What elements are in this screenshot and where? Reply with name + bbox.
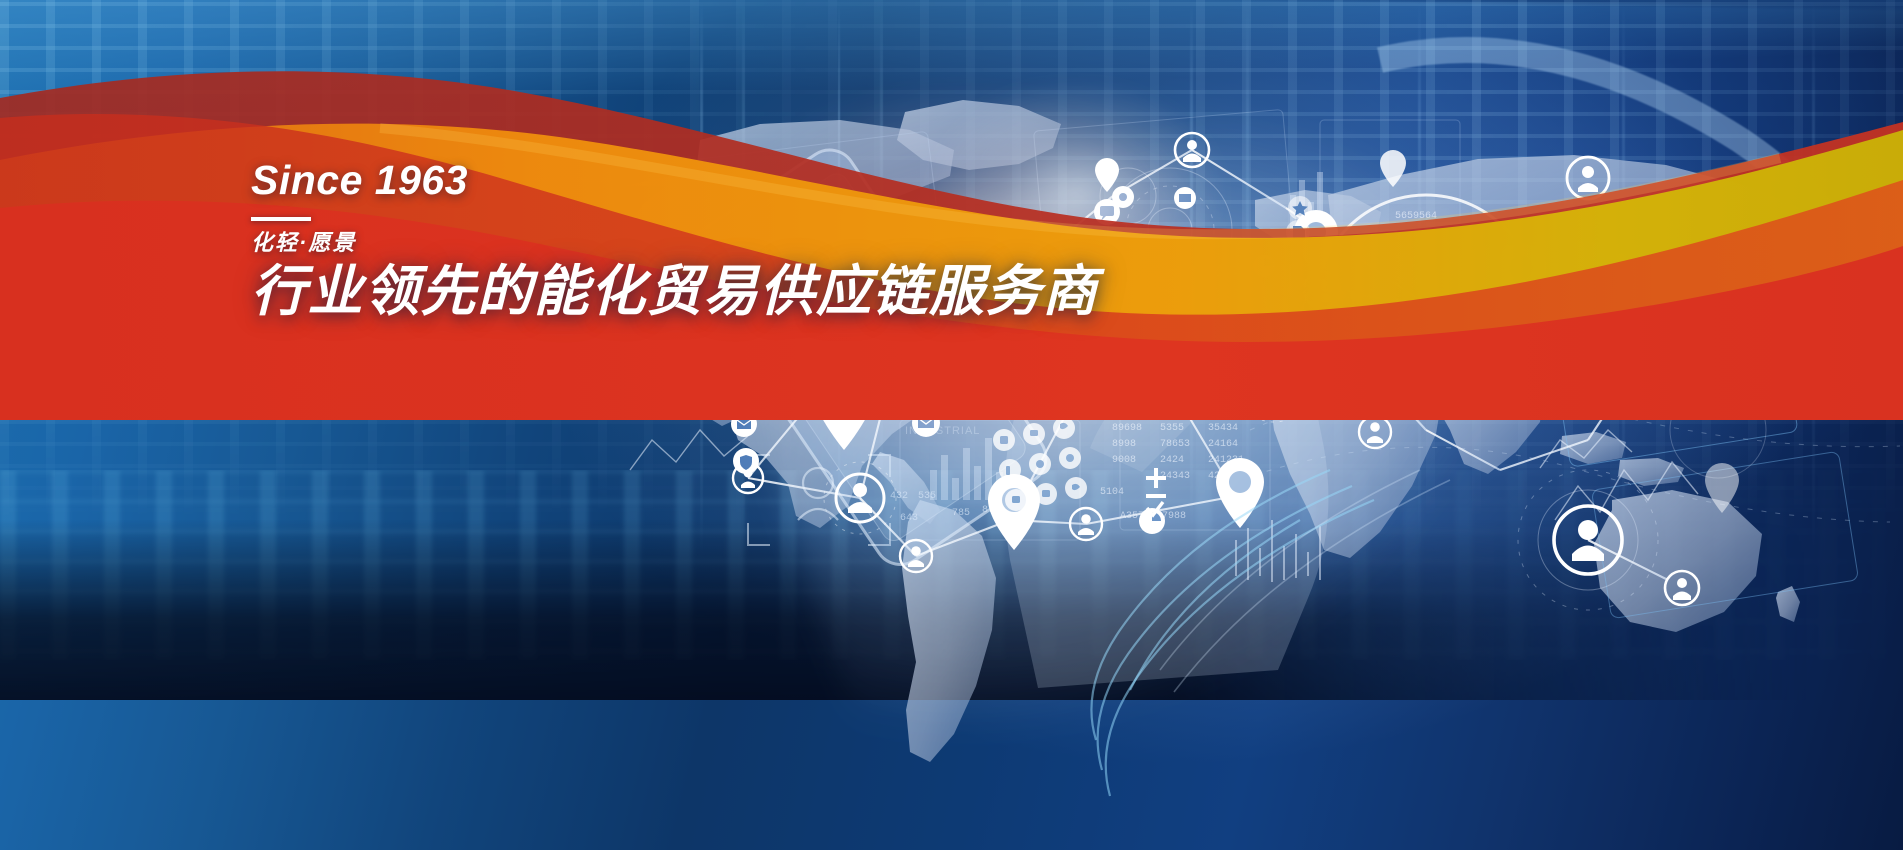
background-light-streaks: [0, 0, 1903, 850]
pie-chart-icon: [1139, 508, 1165, 534]
background-gradient: [0, 0, 1903, 850]
lens-bubble: [1316, 195, 1536, 415]
background-diagonal-sweep: [0, 0, 1903, 850]
gear-icon: [1335, 290, 1361, 316]
user-avatar-icon: [1359, 416, 1391, 448]
light-ribbons-soft: [1160, 470, 1450, 692]
user-avatar-icon: [1144, 354, 1182, 392]
user-avatar-icon: [1567, 157, 1609, 199]
svg-text:5659564: 5659564: [1395, 211, 1437, 222]
mini-chart-lines: [630, 430, 1698, 520]
user-avatar-icon: [1332, 329, 1364, 361]
svg-text:535: 535: [918, 491, 936, 502]
world-map-network-graphic: CORPORATE SUCCESS ENTERPRISE COLLABORATI…: [0, 0, 1903, 850]
map-pin-icon: [1095, 158, 1119, 192]
mail-icon: [1174, 187, 1196, 209]
svg-text:875: 875: [982, 505, 1000, 516]
svg-text:422: 422: [1208, 471, 1226, 482]
user-avatar-icon: [824, 462, 896, 534]
svg-text:2865: 2865: [1208, 375, 1232, 386]
svg-text:COLLABORATION: COLLABORATION: [905, 337, 1011, 349]
svg-text:2424: 2424: [1160, 455, 1184, 466]
svg-text:4646: 4646: [1395, 233, 1419, 244]
star-icon: [1288, 196, 1312, 220]
user-avatar-icon: [1175, 133, 1209, 167]
background-dark-floor: [0, 520, 1903, 700]
edit-icon: [1288, 278, 1312, 302]
shield-icon: [733, 448, 759, 474]
map-pin-icon: [988, 474, 1040, 550]
svg-text:5956564: 5956564: [1395, 255, 1437, 266]
svg-text:785: 785: [952, 508, 970, 519]
svg-text:24164: 24164: [1208, 439, 1238, 450]
svg-text:435565: 435565: [1495, 355, 1531, 366]
clock-icon: [1335, 310, 1361, 336]
user-avatar-icon: [1234, 342, 1314, 422]
background-top-band: [0, 0, 1903, 850]
user-avatar-icon: [1085, 338, 1113, 366]
svg-text:5104: 5104: [1100, 487, 1124, 498]
person-card-frames: [798, 468, 838, 520]
map-pin-icon: [1596, 254, 1648, 330]
candlestick-chart: [1236, 520, 1320, 582]
hero-text-block: Since 1963 化轻·愿景 行业领先的能化贸易供应链服务商: [251, 160, 1099, 323]
page-title: 行业领先的能化贸易供应链服务商: [251, 261, 1099, 323]
user-avatar-icon: [1665, 571, 1699, 605]
background-city-lights: [0, 470, 1903, 660]
user-avatar-icon: [733, 463, 763, 493]
map-pin-icon: [1294, 210, 1338, 274]
svg-text:535454: 535454: [1160, 391, 1196, 402]
svg-text:DEVELOPMENT: DEVELOPMENT: [905, 403, 999, 415]
map-pin-icon: [1307, 287, 1339, 333]
svg-text:241231: 241231: [1208, 455, 1244, 466]
hand-silhouette: [1004, 266, 1328, 688]
map-pin-icon: [1302, 202, 1342, 260]
user-avatar-icon: [1304, 272, 1340, 308]
map-pin-icon: [1496, 243, 1546, 316]
svg-text:78653: 78653: [1160, 439, 1190, 450]
hero-banner: CORPORATE SUCCESS ENTERPRISE COLLABORATI…: [0, 0, 1903, 850]
svg-text:6232535: 6232535: [1545, 355, 1587, 366]
svg-text:STRATEGY: STRATEGY: [905, 381, 971, 393]
user-avatar-icon: [1554, 506, 1622, 574]
phone-app-icons-glyphs: [1000, 423, 1080, 503]
user-avatar-icon: [1335, 336, 1361, 362]
svg-text:8998: 8998: [1112, 439, 1136, 450]
svg-text:24343: 24343: [1160, 471, 1190, 482]
map-pin-icon: [812, 356, 876, 450]
svg-text:45652: 45652: [1112, 375, 1142, 386]
svg-text:PARTNER: PARTNER: [905, 359, 964, 371]
user-avatar-icon: [1502, 318, 1546, 362]
svg-text:6564568: 6564568: [1395, 277, 1437, 288]
phone-app-icons: [993, 417, 1087, 511]
background-light-arc: [1380, 50, 1903, 350]
pie-chart-icon: [1253, 255, 1275, 277]
svg-text:654: 654: [1625, 355, 1643, 366]
light-ribbons: [1091, 470, 1374, 796]
svg-text:542342: 542342: [1160, 407, 1196, 418]
mail-icon: [912, 409, 940, 437]
svg-text:643: 643: [900, 513, 918, 524]
svg-text:89698: 89698: [1112, 423, 1142, 434]
map-pin-icon: [1380, 150, 1406, 187]
check-icon: [1147, 502, 1163, 515]
svg-text:1265489: 1265489: [1395, 299, 1437, 310]
gear-icon: [1112, 186, 1134, 208]
user-avatar-icon: [1070, 508, 1102, 540]
hud-dials: [1100, 168, 1766, 610]
document-icon: [1286, 220, 1310, 244]
eyebrow-since: Since 1963: [251, 160, 1099, 201]
plus-icon: [1146, 468, 1166, 488]
mail-icon: [731, 411, 757, 437]
svg-text:432: 432: [890, 491, 908, 502]
svg-text:35434: 35434: [1208, 423, 1238, 434]
svg-text:81898: 81898: [1112, 407, 1142, 418]
user-avatar-icon: [900, 540, 932, 572]
svg-text:3748: 3748: [1160, 375, 1184, 386]
svg-text:A3576867988: A3576867988: [1120, 511, 1186, 522]
user-avatar-icon: [1631, 337, 1661, 367]
svg-text:INDUSTRIAL: INDUSTRIAL: [905, 425, 980, 437]
document-icon: [1030, 382, 1050, 402]
divider-rule: [251, 217, 311, 221]
map-pin-icon: [1216, 458, 1264, 528]
background-diagonal-sweep-dark: [0, 0, 1903, 850]
svg-text:3541: 3541: [1208, 391, 1232, 402]
svg-text:587: 587: [1112, 391, 1130, 402]
svg-text:2213: 2213: [1208, 407, 1232, 418]
svg-text:9008: 9008: [1112, 455, 1136, 466]
svg-text:5355: 5355: [1160, 423, 1184, 434]
map-pin-icon: [1705, 463, 1739, 513]
subtitle-vision: 化轻·愿景: [251, 232, 1099, 254]
